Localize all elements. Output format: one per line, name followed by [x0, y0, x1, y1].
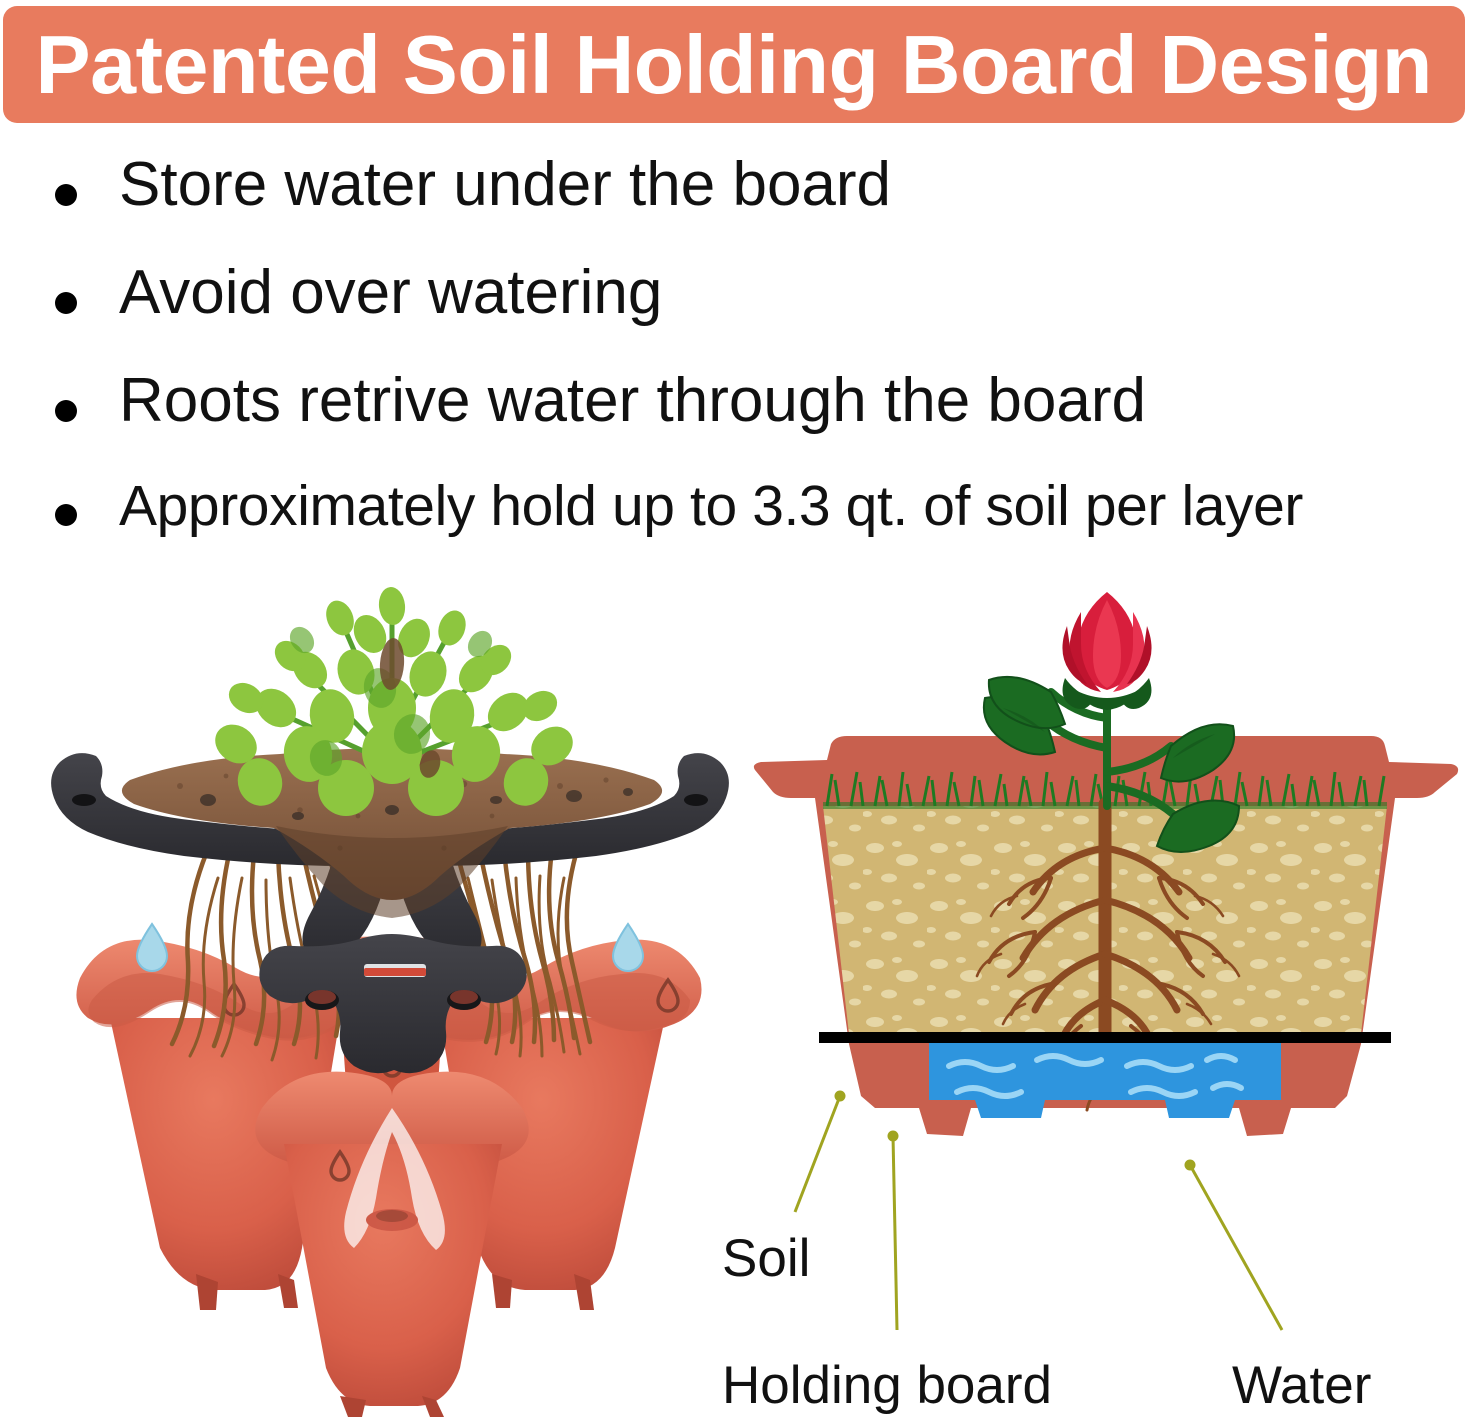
label-holding-board: Holding board: [722, 1355, 1052, 1416]
feature-bullet-list: Store water under the board Avoid over w…: [55, 152, 1470, 584]
green-plant: [208, 586, 581, 816]
bullet-dot-icon: [55, 184, 77, 206]
header-banner: Patented Soil Holding Board Design: [3, 6, 1465, 123]
bullet-dot-icon: [55, 504, 77, 526]
holding-board-line: [819, 1032, 1391, 1043]
bullet-dot-icon: [55, 400, 77, 422]
rose-bloom: [1062, 592, 1151, 692]
bullet-label: Approximately hold up to 3.3 qt. of soil…: [119, 476, 1303, 538]
label-water: Water: [1232, 1355, 1371, 1416]
list-item: Avoid over watering: [55, 260, 1470, 368]
label-soil: Soil: [722, 1228, 810, 1289]
bullet-label: Store water under the board: [119, 152, 891, 219]
pot-cross-section-diagram: [735, 548, 1474, 1417]
list-item: Store water under the board: [55, 152, 1470, 260]
bullet-label: Avoid over watering: [119, 260, 662, 327]
bullet-dot-icon: [55, 292, 77, 314]
list-item: Roots retrive water through the board: [55, 368, 1470, 476]
page-title: Patented Soil Holding Board Design: [36, 23, 1432, 106]
stacking-planter-photo: [40, 548, 740, 1417]
bullet-label: Roots retrive water through the board: [119, 368, 1146, 435]
